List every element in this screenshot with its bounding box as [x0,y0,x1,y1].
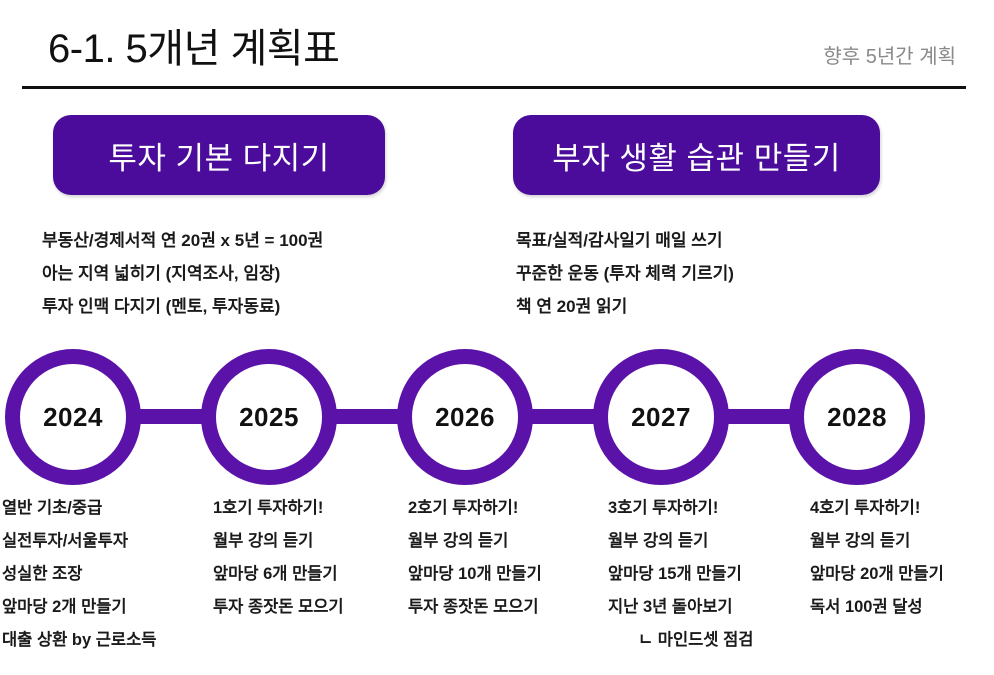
banner-notes-right: 목표/실적/감사일기 매일 쓰기 꾸준한 운동 (투자 체력 기르기) 책 연 … [516,224,734,323]
timeline-connector [722,409,798,424]
note-line: 앞마당 10개 만들기 [408,558,542,591]
note-line: 성실한 조장 [2,558,156,591]
header-subtitle: 향후 5년간 계획 [823,40,956,69]
year-node-2025[interactable]: 2025 [201,349,337,485]
note-line: 월부 강의 듣기 [213,525,344,558]
year-notes-2028: 4호기 투자하기! 월부 강의 듣기 앞마당 20개 만들기 독서 100권 달… [810,492,944,624]
year-notes-2025: 1호기 투자하기! 월부 강의 듣기 앞마당 6개 만들기 투자 종잣돈 모으기 [213,492,344,624]
page-title: 6-1. 5개년 계획표 [48,16,339,74]
note-line: 월부 강의 듣기 [408,525,542,558]
year-node-2024[interactable]: 2024 [5,349,141,485]
header-divider [22,86,966,89]
note-line: 투자 종잣돈 모으기 [408,591,542,624]
note-line: 지난 3년 돌아보기 [608,591,753,624]
year-node-2027[interactable]: 2027 [593,349,729,485]
note-line-sub: ㄴ 마인드셋 점검 [608,624,753,657]
note-line: 앞마당 20개 만들기 [810,558,944,591]
year-node-2028[interactable]: 2028 [789,349,925,485]
year-notes-2026: 2호기 투자하기! 월부 강의 듣기 앞마당 10개 만들기 투자 종잣돈 모으… [408,492,542,624]
note-line: 꾸준한 운동 (투자 체력 기르기) [516,257,734,290]
note-line: 아는 지역 넓히기 (지역조사, 임장) [42,257,323,290]
note-line: 투자 종잣돈 모으기 [213,591,344,624]
note-line: 대출 상환 by 근로소득 [2,624,156,657]
note-line: 책 연 20권 읽기 [516,290,734,323]
note-line: 부동산/경제서적 연 20권 x 5년 = 100권 [42,224,323,257]
year-node-2026[interactable]: 2026 [397,349,533,485]
banner-label: 투자 기본 다지기 [108,133,329,178]
year-label: 2026 [435,402,495,433]
banner-rich-habits: 부자 생활 습관 만들기 [513,115,880,195]
banner-label: 부자 생활 습관 만들기 [552,133,841,178]
year-label: 2028 [827,402,887,433]
year-notes-2027: 3호기 투자하기! 월부 강의 듣기 앞마당 15개 만들기 지난 3년 돌아보… [608,492,753,657]
note-line: 열반 기초/중급 [2,492,156,525]
year-label: 2027 [631,402,691,433]
note-line: 4호기 투자하기! [810,492,944,525]
timeline: 2024 2025 2026 2027 2028 [0,347,994,487]
note-line: 실전투자/서울투자 [2,525,156,558]
timeline-connector [134,409,210,424]
year-label: 2025 [239,402,299,433]
slide-canvas: 6-1. 5개년 계획표 향후 5년간 계획 투자 기본 다지기 부자 생활 습… [0,0,994,675]
note-line: 월부 강의 듣기 [810,525,944,558]
note-line: 목표/실적/감사일기 매일 쓰기 [516,224,734,257]
year-label: 2024 [43,402,103,433]
year-notes-2024: 열반 기초/중급 실전투자/서울투자 성실한 조장 앞마당 2개 만들기 대출 … [2,492,156,657]
timeline-connector [330,409,406,424]
note-line: 앞마당 15개 만들기 [608,558,753,591]
note-line: 앞마당 2개 만들기 [2,591,156,624]
note-line: 앞마당 6개 만들기 [213,558,344,591]
note-line: 월부 강의 듣기 [608,525,753,558]
banner-notes-left: 부동산/경제서적 연 20권 x 5년 = 100권 아는 지역 넓히기 (지역… [42,224,323,323]
banner-investment-basics: 투자 기본 다지기 [53,115,385,195]
note-line: 투자 인맥 다지기 (멘토, 투자동료) [42,290,323,323]
note-line: 3호기 투자하기! [608,492,753,525]
timeline-connector [526,409,602,424]
note-line: 2호기 투자하기! [408,492,542,525]
note-line: 1호기 투자하기! [213,492,344,525]
note-line: 독서 100권 달성 [810,591,944,624]
